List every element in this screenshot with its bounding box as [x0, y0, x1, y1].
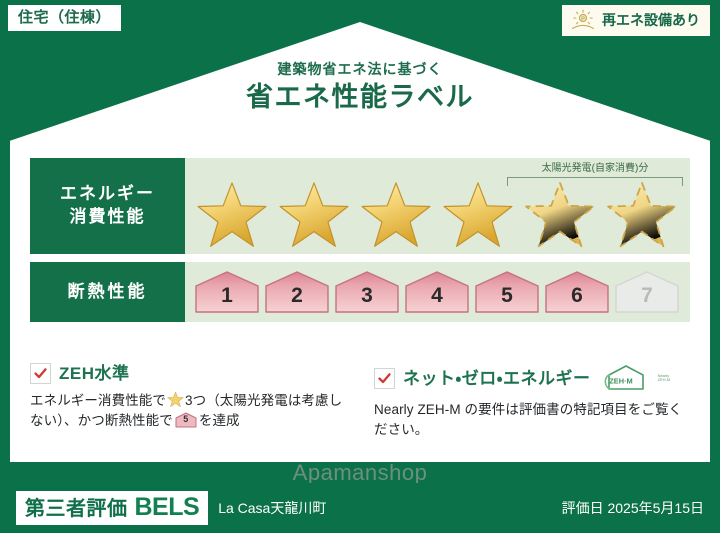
renewable-badge-label: 再エネ設備あり — [602, 13, 700, 27]
footer-bar: 第三者評価 BELS La Casa天龍川町 評価日 2025年5月15日 — [0, 483, 720, 533]
bels-energy-label: 住宅（住棟） P 再エネ設備あり 建築物省エネ法に基 — [0, 0, 720, 533]
performance-rows: エネルギー 消費性能 太陽光発電(自家消費)分 — [30, 158, 690, 330]
net-zero-energy-description: Nearly ZEH-M の要件は評価書の特記項目をご覧ください。 — [374, 400, 692, 441]
inline-grade-badge: 5 — [175, 412, 197, 428]
check-icon — [377, 371, 392, 386]
grade-number: 1 — [221, 285, 233, 315]
insulation-grade-1: 1 — [193, 269, 261, 315]
energy-performance-label: エネルギー 消費性能 — [30, 158, 185, 254]
grade-number: 7 — [641, 285, 653, 315]
zeh-level-title: ZEH水準 — [59, 365, 130, 382]
zeh-m-sub-line2: ZEH-M — [658, 377, 671, 382]
desc-star-count: 3つ（太陽光発電 — [185, 393, 288, 408]
star-rating-strip — [185, 180, 690, 250]
grade-number: 3 — [361, 285, 373, 315]
insulation-grade-7: 7 — [613, 269, 681, 315]
title-main: 省エネ性能ラベル — [0, 84, 720, 111]
bels-jp-label: 第三者評価 — [25, 499, 128, 519]
energy-label-line2: 消費性能 — [70, 206, 146, 229]
building-name: La Casa天龍川町 — [218, 498, 326, 518]
criterion-net-zero-energy: ネット・ゼロ・エネルギー ZEH·M Nearly ZEH-M Nearly Z… — [374, 363, 692, 441]
evaluation-date: 評価日 2025年5月15日 — [562, 498, 704, 518]
solar-bracket-caption: 太陽光発電(自家消費)分 — [507, 164, 683, 174]
zeh-level-checkbox[interactable] — [30, 363, 51, 384]
insulation-grade-6: 6 — [543, 269, 611, 315]
inline-star-icon — [167, 391, 184, 408]
category-tag: 住宅（住棟） — [8, 5, 121, 31]
energy-rating-panel: 太陽光発電(自家消費)分 — [185, 158, 690, 254]
bels-en-label: BELS — [135, 495, 200, 520]
zeh-m-logo-subtext: Nearly ZEH-M — [658, 374, 671, 383]
star-filled-1 — [191, 180, 273, 250]
star-solar-6 — [601, 180, 683, 250]
bels-certification-badge: 第三者評価 BELS — [16, 491, 208, 525]
grade-number: 2 — [291, 285, 303, 315]
zeh-m-logo-icon: ZEH·M — [603, 363, 649, 393]
grade-number: 5 — [501, 285, 513, 315]
grade-number: 6 — [571, 285, 583, 315]
insulation-grade-5: 5 — [473, 269, 541, 315]
criterion-header: ZEH水準 — [30, 363, 348, 384]
criteria-section: ZEH水準 エネルギー消費性能で3つ（太陽光発電は考慮しない）、かつ断熱性能で5… — [30, 363, 692, 441]
sun-icon: P — [570, 9, 596, 31]
inline-grade-number: 5 — [175, 412, 197, 428]
desc-part-1: エネルギー消費性能で — [30, 393, 166, 408]
criterion-zeh-level: ZEH水準 エネルギー消費性能で3つ（太陽光発電は考慮しない）、かつ断熱性能で5… — [30, 363, 348, 441]
insulation-performance-row: 断熱性能 1 — [30, 262, 690, 322]
grade-number: 4 — [431, 285, 443, 315]
desc-part-3: を達成 — [199, 413, 240, 428]
criterion-header: ネット・ゼロ・エネルギー ZEH·M Nearly ZEH-M — [374, 363, 692, 393]
net-zero-energy-checkbox[interactable] — [374, 368, 395, 389]
star-solar-5 — [519, 180, 601, 250]
svg-text:P: P — [581, 16, 585, 22]
energy-performance-row: エネルギー 消費性能 太陽光発電(自家消費)分 — [30, 158, 690, 254]
check-icon — [33, 366, 48, 381]
insulation-grade-3: 3 — [333, 269, 401, 315]
insulation-grade-panel: 1 2 3 4 — [185, 262, 690, 322]
insulation-grade-2: 2 — [263, 269, 331, 315]
zeh-level-description: エネルギー消費性能で3つ（太陽光発電は考慮しない）、かつ断熱性能で5を達成 — [30, 391, 348, 432]
star-filled-3 — [355, 180, 437, 250]
insulation-performance-label: 断熱性能 — [30, 262, 185, 322]
star-filled-2 — [273, 180, 355, 250]
renewable-energy-badge: P 再エネ設備あり — [562, 5, 710, 36]
svg-text:ZEH·M: ZEH·M — [609, 377, 632, 386]
insulation-label-text: 断熱性能 — [68, 281, 148, 304]
star-filled-4 — [437, 180, 519, 250]
insulation-grade-4: 4 — [403, 269, 471, 315]
title-subtitle: 建築物省エネ法に基づく — [0, 62, 720, 76]
label-title-block: 建築物省エネ法に基づく 省エネ性能ラベル — [0, 62, 720, 111]
net-zero-energy-title: ネット・ゼロ・エネルギー — [403, 370, 591, 387]
energy-label-line1: エネルギー — [60, 183, 155, 206]
